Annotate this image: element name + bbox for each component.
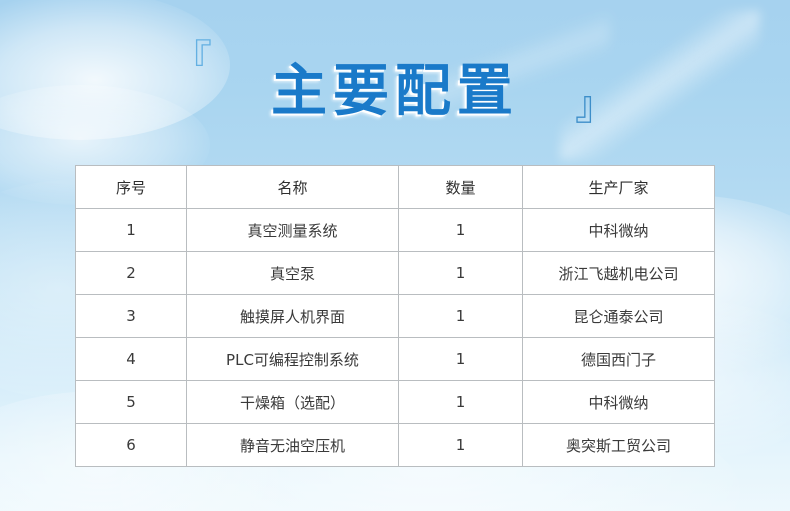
table-header-row: 序号 名称 数量 生产厂家: [76, 166, 715, 209]
cell-name: PLC可编程控制系统: [187, 338, 399, 381]
cell-manufacturer: 中科微纳: [523, 381, 715, 424]
specification-table: 序号 名称 数量 生产厂家 1 真空测量系统 1 中科微纳 2 真空泵 1 浙江: [75, 165, 715, 467]
table-header: 序号 名称 数量 生产厂家: [76, 166, 715, 209]
table-row: 3 触摸屏人机界面 1 昆仑通泰公司: [76, 295, 715, 338]
table-row: 5 干燥箱（选配） 1 中科微纳: [76, 381, 715, 424]
cell-manufacturer: 德国西门子: [523, 338, 715, 381]
cell-manufacturer: 昆仑通泰公司: [523, 295, 715, 338]
cell-manufacturer: 中科微纳: [523, 209, 715, 252]
table-row: 2 真空泵 1 浙江飞越机电公司: [76, 252, 715, 295]
column-header-manufacturer: 生产厂家: [523, 166, 715, 209]
specification-table-container: 序号 名称 数量 生产厂家 1 真空测量系统 1 中科微纳 2 真空泵 1 浙江: [75, 165, 714, 467]
cell-no: 6: [76, 424, 187, 467]
cell-quantity: 1: [399, 252, 523, 295]
cell-no: 5: [76, 381, 187, 424]
column-header-name: 名称: [187, 166, 399, 209]
title-block: 『 主要配置 』: [0, 28, 790, 138]
cell-quantity: 1: [399, 381, 523, 424]
cell-quantity: 1: [399, 338, 523, 381]
cell-manufacturer: 奥突斯工贸公司: [523, 424, 715, 467]
page-title: 主要配置: [0, 46, 790, 127]
cell-name: 真空测量系统: [187, 209, 399, 252]
cell-manufacturer: 浙江飞越机电公司: [523, 252, 715, 295]
table-body: 1 真空测量系统 1 中科微纳 2 真空泵 1 浙江飞越机电公司 3 触摸屏人机…: [76, 209, 715, 467]
table-row: 4 PLC可编程控制系统 1 德国西门子: [76, 338, 715, 381]
column-header-no: 序号: [76, 166, 187, 209]
cell-no: 4: [76, 338, 187, 381]
cell-no: 3: [76, 295, 187, 338]
table-row: 1 真空测量系统 1 中科微纳: [76, 209, 715, 252]
cell-quantity: 1: [399, 295, 523, 338]
cell-name: 真空泵: [187, 252, 399, 295]
corner-bracket-close-icon: 』: [575, 86, 615, 126]
cell-no: 2: [76, 252, 187, 295]
cell-name: 静音无油空压机: [187, 424, 399, 467]
cell-quantity: 1: [399, 424, 523, 467]
cell-no: 1: [76, 209, 187, 252]
cell-name: 触摸屏人机界面: [187, 295, 399, 338]
table-row: 6 静音无油空压机 1 奥突斯工贸公司: [76, 424, 715, 467]
page-root: 『 主要配置 』 序号 名称 数量 生产厂家 1 真空测量系统 1: [0, 0, 790, 511]
cell-name: 干燥箱（选配）: [187, 381, 399, 424]
column-header-quantity: 数量: [399, 166, 523, 209]
cell-quantity: 1: [399, 209, 523, 252]
